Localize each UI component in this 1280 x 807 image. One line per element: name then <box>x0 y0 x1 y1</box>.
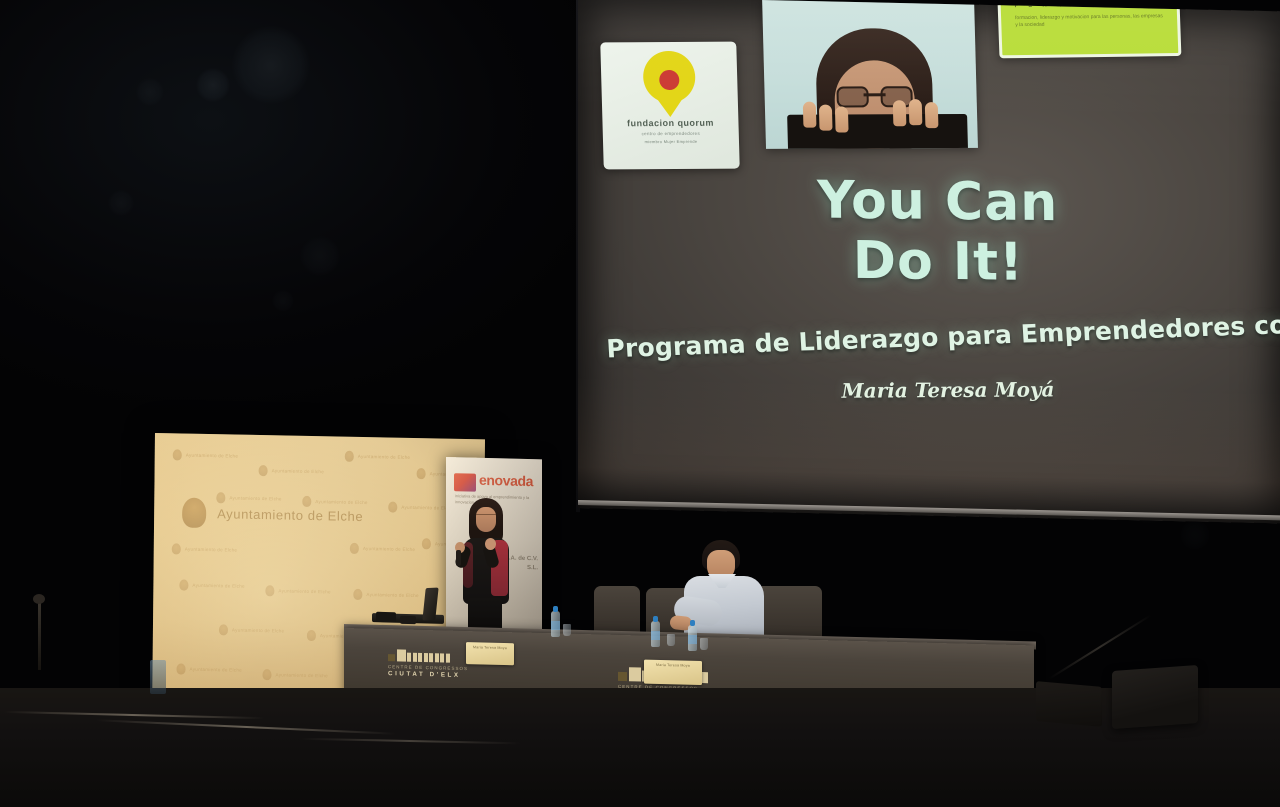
rollup-logo-swatch <box>454 473 476 492</box>
slide-title-line-1: You Can <box>817 170 1059 233</box>
conference-stage-photo: fundacion quorum centro de emprendedores… <box>0 0 1280 807</box>
photo-hair <box>815 28 934 149</box>
slide-title: You Can Do It! <box>727 169 1148 294</box>
drinking-glass <box>667 634 675 646</box>
photo-finger <box>925 102 939 128</box>
chair <box>594 586 640 636</box>
photo-glasses-right <box>880 86 913 107</box>
speaker-glasses <box>476 514 496 520</box>
slide-photo-woman-peeking <box>762 0 978 149</box>
congress-bars-icon <box>388 645 468 663</box>
av-equipment-box <box>400 616 416 624</box>
backdrop-main-logo: Ayuntamiento de Elche <box>182 498 363 531</box>
rollup-logo-word: enovada <box>479 472 533 489</box>
fundacion-quorum-logo: fundacion quorum centro de emprendedores… <box>600 42 739 170</box>
table-logo-left: CENTRE DE CONGRESSOS CIUTAT D'ELX <box>388 645 468 679</box>
backdrop-watermark: Ayuntamiento de Elche <box>265 585 331 597</box>
drinking-glass <box>700 638 708 650</box>
quorum-logo-tagline-2: miembro Mujer Emprende <box>645 139 698 144</box>
backdrop-main-text: Ayuntamiento de Elche <box>217 506 363 524</box>
backdrop-watermark: Ayuntamiento de Elche <box>353 589 419 601</box>
photo-glasses-bridge <box>864 93 886 96</box>
backdrop-watermark: Ayuntamiento de Elche <box>219 624 285 636</box>
backdrop-watermark: Ayuntamiento de Elche <box>302 496 368 508</box>
photo-finger <box>909 99 923 125</box>
slide-title-line-2: Do It! <box>728 229 1149 294</box>
slide-subtitle: Programa de Liderazgo para Emprendedores… <box>606 312 1227 363</box>
backdrop-watermark: Ayuntamiento de Elche <box>388 501 454 513</box>
quorum-logo-name: fundacion quorum <box>627 118 714 129</box>
backdrop-watermark: Ayuntamiento de Elche <box>216 492 282 504</box>
photo-foreground-board <box>787 114 968 149</box>
microphone-head-icon <box>33 594 45 604</box>
name-placard-text: Maria Teresa Moya <box>644 663 702 668</box>
photo-finger <box>893 100 907 126</box>
microphone-stand <box>38 600 41 670</box>
backdrop-watermark: Ayuntamiento de Elche <box>345 451 411 463</box>
presentation-slide: fundacion quorum centro de emprendedores… <box>578 0 1280 523</box>
elche-crest-icon <box>182 498 206 528</box>
ibd-logo-body: formacion, liderazgo y motivacion para l… <box>1015 13 1165 29</box>
microphone-icon <box>456 550 461 566</box>
water-bottle <box>551 611 560 637</box>
stage-monitor-speaker <box>1112 665 1198 729</box>
standing-speaker-woman <box>455 498 517 636</box>
name-placard: Maria Teresa Moya <box>466 642 514 665</box>
stage-prop-box <box>150 660 166 694</box>
photo-face <box>834 60 916 148</box>
name-placard: Maria Teresa Moya <box>644 660 702 685</box>
av-equipment-box <box>376 612 396 622</box>
photo-finger <box>835 106 849 132</box>
photo-finger <box>819 105 833 131</box>
backdrop-watermark: Ayuntamiento de Elche <box>179 579 245 591</box>
name-placard-text: Maria Teresa Moya <box>466 645 514 650</box>
backdrop-watermark: Ayuntamiento de Elche <box>172 543 238 555</box>
quorum-logo-tagline: centro de emprendedores <box>642 131 701 136</box>
water-bottle <box>688 625 697 651</box>
backdrop-watermark: Ayuntamiento de Elche <box>259 465 325 477</box>
speaker-right-hand <box>485 538 496 550</box>
backdrop-watermark: Ayuntamiento de Elche <box>173 449 239 461</box>
drinking-glass <box>563 624 571 636</box>
stage-monitor-speaker <box>1036 681 1102 727</box>
backdrop-watermark: Ayuntamiento de Elche <box>176 663 242 675</box>
photo-glasses-left <box>836 86 869 107</box>
backdrop-watermark: Ayuntamiento de Elche <box>350 543 416 555</box>
slide-author: Maria Teresa Moyá <box>738 377 1159 404</box>
photo-finger <box>803 102 817 128</box>
quorum-pin-icon <box>642 51 696 113</box>
ibd-formacion-logo: IBD F O R M A C I O N formacion, lideraz… <box>997 0 1182 58</box>
table-logo-city: CIUTAT D'ELX <box>388 670 468 679</box>
backdrop-watermark: Ayuntamiento de Elche <box>262 669 328 681</box>
water-bottle <box>651 621 660 647</box>
projection-screen: fundacion quorum centro de emprendedores… <box>578 0 1280 523</box>
